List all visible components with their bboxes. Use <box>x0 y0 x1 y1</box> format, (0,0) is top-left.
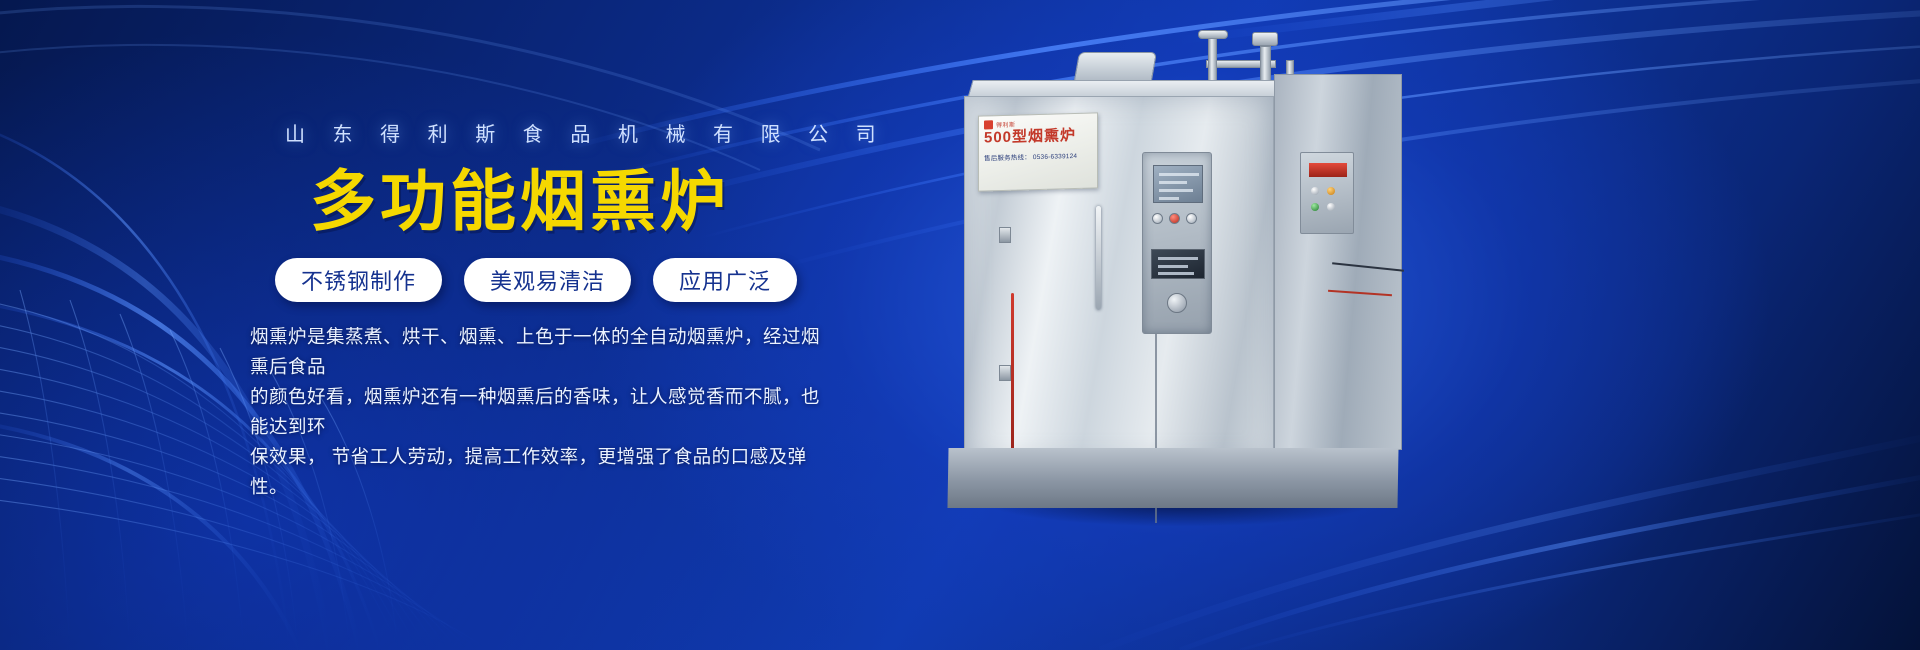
control-panel-main[interactable] <box>1142 152 1212 334</box>
control-button-stop[interactable] <box>1169 213 1180 224</box>
control-button[interactable] <box>1186 213 1197 224</box>
side-panel-light[interactable] <box>1327 187 1335 195</box>
door-handle <box>1096 206 1101 310</box>
machine-base-plinth <box>947 448 1398 508</box>
description-line-2: 的颜色好看，烟熏炉还有一种烟熏后的香味，让人感觉香而不腻，也能达到环 <box>250 382 820 442</box>
feature-pill-wide-application[interactable]: 应用广泛 <box>653 258 797 302</box>
door-hinge <box>999 227 1011 243</box>
side-panel-light[interactable] <box>1327 203 1335 211</box>
control-display-screen <box>1153 165 1203 203</box>
control-panel-side[interactable] <box>1300 152 1354 234</box>
roof-valve-icon <box>1252 32 1278 46</box>
nameplate-model-text: 500型烟熏炉 <box>984 127 1092 147</box>
nameplate-hotline-text: 售后服务热线： 0536-6339124 <box>984 149 1092 162</box>
control-secondary-display <box>1151 249 1205 279</box>
feature-pill-label: 美观易清洁 <box>490 264 605 296</box>
product-photo-smokehouse-oven: 得利斯 500型烟熏炉 售后服务热线： 0536-6339124 <box>930 30 1490 550</box>
door-hinge <box>999 365 1011 381</box>
side-panel-light[interactable] <box>1311 203 1319 211</box>
feature-pill-label: 应用广泛 <box>679 264 771 296</box>
promo-banner: 山 东 得 利 斯 食 品 机 械 有 限 公 司 多功能烟熏炉 不锈钢制作 美… <box>0 0 1920 650</box>
brand-mark-icon <box>984 120 993 129</box>
company-name: 山 东 得 利 斯 食 品 机 械 有 限 公 司 <box>285 118 887 147</box>
feature-pill-label: 不锈钢制作 <box>301 264 416 296</box>
feature-pill-group: 不锈钢制作 美观易清洁 应用广泛 <box>275 258 797 302</box>
page-title: 多功能烟熏炉 <box>310 168 730 234</box>
control-button[interactable] <box>1152 213 1163 224</box>
feature-pill-stainless[interactable]: 不锈钢制作 <box>275 258 442 302</box>
side-panel-indicator-bar <box>1309 163 1347 177</box>
control-knob[interactable] <box>1167 293 1187 313</box>
product-description: 烟熏炉是集蒸煮、烘干、烟熏、上色于一体的全自动烟熏炉，经过烟熏后食品 的颜色好看… <box>250 322 820 502</box>
machine-nameplate: 得利斯 500型烟熏炉 售后服务热线： 0536-6339124 <box>978 112 1098 191</box>
description-line-3: 保效果， 节省工人劳动，提高工作效率，更增强了食品的口感及弹性。 <box>250 442 820 502</box>
side-panel-light[interactable] <box>1311 187 1319 195</box>
description-line-1: 烟熏炉是集蒸煮、烘干、烟熏、上色于一体的全自动烟熏炉，经过烟熏后食品 <box>250 322 820 382</box>
banner-text-content: 山 东 得 利 斯 食 品 机 械 有 限 公 司 多功能烟熏炉 不锈钢制作 美… <box>0 0 900 650</box>
control-button-row[interactable] <box>1152 213 1197 224</box>
feature-pill-easy-clean[interactable]: 美观易清洁 <box>464 258 631 302</box>
